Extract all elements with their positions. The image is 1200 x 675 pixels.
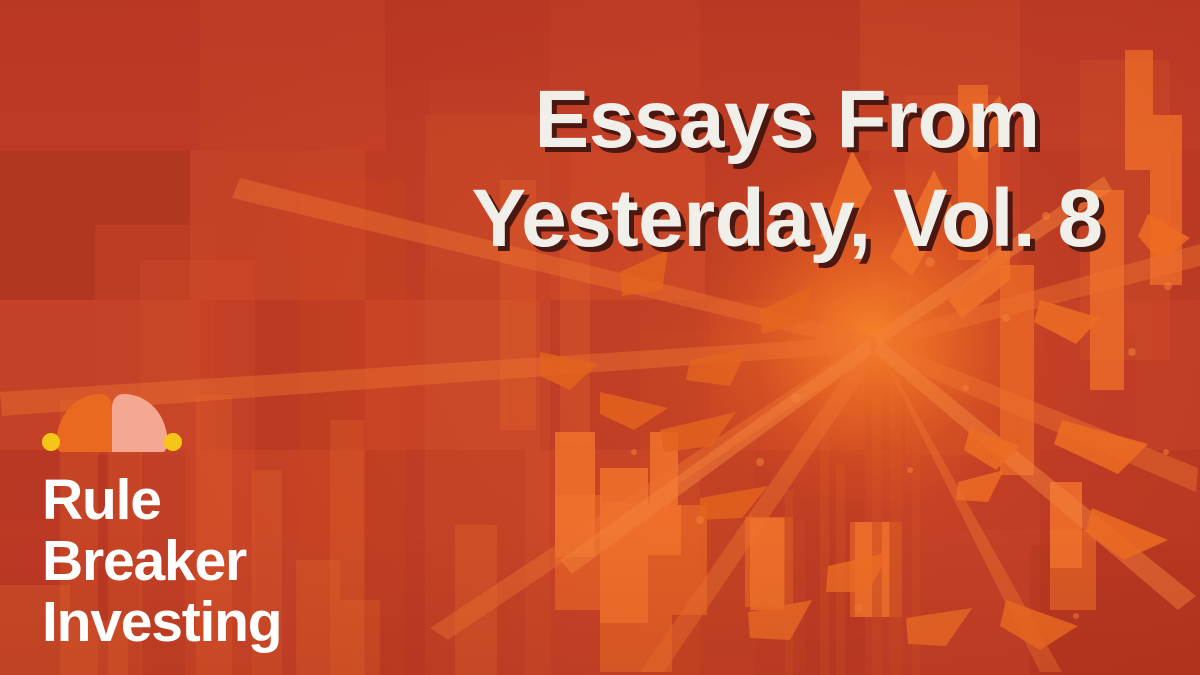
jester-hat-icon	[42, 392, 182, 454]
episode-title-line-2: Yesterday, Vol. 8	[422, 169, 1152, 268]
episode-title-line-1: Essays From	[422, 70, 1152, 169]
episode-title: Essays From Yesterday, Vol. 8	[422, 70, 1152, 268]
brand-name-line-1: Rule	[42, 470, 382, 531]
podcast-cover-art: Essays From Yesterday, Vol. 8 Rule Break…	[0, 0, 1200, 675]
brand-name-line-2: Breaker	[42, 531, 382, 592]
brand-name-line-3: Investing	[42, 592, 382, 653]
brand-lockup: Rule Breaker Investing	[42, 392, 382, 653]
